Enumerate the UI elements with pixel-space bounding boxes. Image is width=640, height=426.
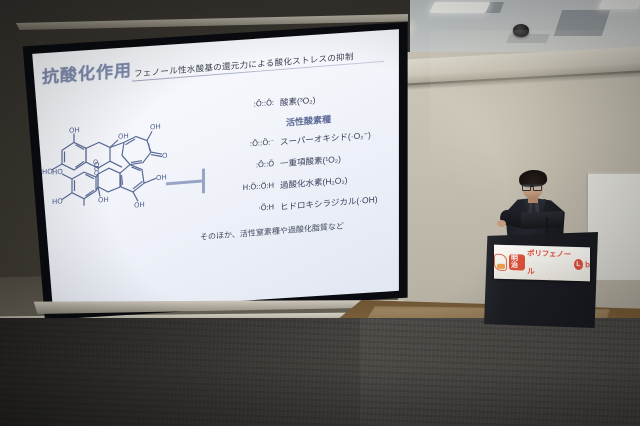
ceiling-tile (506, 34, 550, 43)
svg-text:OH: OH (150, 123, 161, 132)
svg-text:OH: OH (69, 126, 80, 135)
logo-circle-l: L (574, 258, 584, 269)
ros-label: 酸素(³O₂) (280, 93, 315, 108)
logo-title: ポリフェノール (527, 249, 571, 276)
ros-label: 過酸化水素(H₂O₂) (280, 174, 348, 191)
lewis-structure-icon: ·Ö:H (220, 202, 280, 216)
ceiling-light (598, 0, 640, 9)
inhibition-symbol-icon (166, 163, 220, 201)
lewis-structure-icon: :Ö::Ö: (220, 98, 280, 112)
svg-text:O: O (94, 169, 99, 177)
presentation-scene: 抗酸化作用 フェノール性水酸基の還元力による酸化ストレスの抑制 (0, 0, 640, 426)
lewis-structure-icon: :Ö::Ö (220, 159, 280, 173)
ceiling-light (429, 2, 490, 13)
chemical-structure-diagram: OH HO OH OH OH OH HO HO OH O O O O (32, 111, 184, 249)
speaker-person (496, 168, 580, 240)
svg-text:HO: HO (52, 168, 63, 177)
svg-text:OH: OH (118, 132, 129, 141)
ros-list: :Ö::Ö: 酸素(³O₂) 活性酸素種 :Ö::Ö:⁻ スーパーオキシド(·O… (220, 82, 400, 222)
ceiling-tile (554, 10, 610, 36)
ros-label: スーパーオキシド(·O₂⁻) (280, 128, 371, 147)
hand (497, 220, 506, 227)
svg-text:OH: OH (98, 196, 109, 205)
dome-camera-icon (513, 24, 529, 37)
svg-text:O: O (162, 152, 168, 160)
projected-slide: 抗酸化作用 フェノール性水酸基の還元力による酸化ストレスの抑制 (14, 22, 410, 320)
slide-footnote: そのほか、活性窒素種や過酸化脂質など (200, 221, 344, 243)
svg-text:OH: OH (134, 201, 145, 210)
lewis-structure-icon: H:Ö::Ö:H (220, 180, 280, 194)
logo-brand-pill: 明治 (509, 254, 525, 270)
ros-label: ヒドロキシラジカル(·OH) (280, 193, 378, 212)
floor-shadow (0, 318, 360, 426)
logo-letter-b: b (585, 260, 590, 269)
ros-label: 一重項酸素(¹O₂) (280, 152, 341, 169)
lewis-structure-icon: :Ö::Ö:⁻ (220, 137, 280, 151)
svg-text:HO: HO (52, 197, 63, 206)
svg-text:O: O (93, 158, 98, 166)
slide-title: 抗酸化作用 (42, 56, 132, 88)
glasses-icon (522, 184, 542, 188)
cocoa-cup-icon (494, 253, 507, 270)
podium-monitor (521, 211, 563, 229)
podium-logo-panel: 明治 ポリフェノール MEIJI CACAO L b (494, 245, 590, 282)
